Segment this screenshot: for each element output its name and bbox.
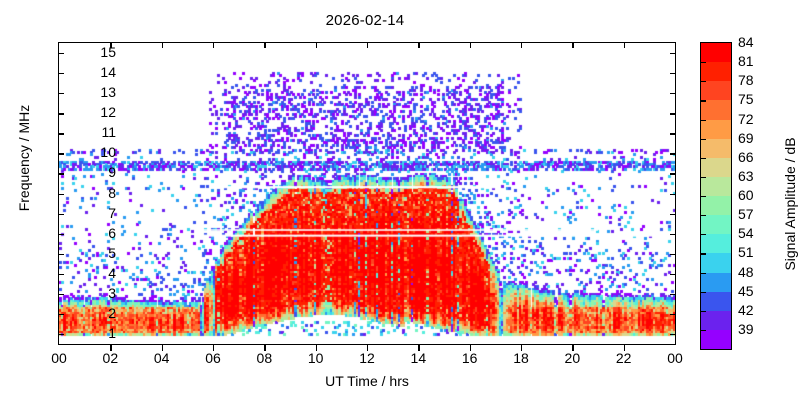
colorbar-segment bbox=[701, 120, 731, 140]
colorbar-tick-label: 60 bbox=[738, 188, 754, 202]
x-tick-label: 02 bbox=[90, 351, 130, 365]
y-tick-mark bbox=[58, 274, 64, 275]
y-tick-mark-right bbox=[670, 194, 676, 195]
y-tick-label: 12 bbox=[72, 105, 116, 119]
colorbar-tick-mark bbox=[700, 196, 706, 197]
y-tick-mark bbox=[58, 173, 64, 174]
colorbar-tick-mark bbox=[700, 330, 706, 331]
y-tick-mark-right bbox=[670, 113, 676, 114]
colorbar-tick-label: 78 bbox=[738, 73, 754, 87]
colorbar-tick-label: 57 bbox=[738, 207, 754, 221]
y-tick-label: 3 bbox=[72, 286, 116, 300]
y-tick-mark bbox=[58, 314, 64, 315]
colorbar-tick-mark bbox=[700, 158, 706, 159]
y-tick-label: 9 bbox=[72, 165, 116, 179]
plot-area bbox=[58, 42, 676, 345]
x-tick-label: 14 bbox=[398, 351, 438, 365]
colorbar-tick-mark bbox=[700, 139, 706, 140]
y-tick-mark bbox=[58, 294, 64, 295]
y-tick-mark bbox=[58, 194, 64, 195]
y-tick-mark-right bbox=[670, 133, 676, 134]
colorbar-segment bbox=[701, 196, 731, 216]
x-tick-mark bbox=[470, 345, 471, 351]
colorbar-tick-mark bbox=[700, 273, 706, 274]
y-tick-mark bbox=[58, 73, 64, 74]
colorbar-tick-mark bbox=[700, 311, 706, 312]
colorbar-tick-label: 81 bbox=[738, 54, 754, 68]
colorbar-segment bbox=[701, 158, 731, 178]
colorbar-tick-mark bbox=[700, 215, 706, 216]
x-tick-label: 08 bbox=[244, 351, 284, 365]
y-tick-label: 13 bbox=[72, 85, 116, 99]
x-tick-label: 00 bbox=[655, 351, 695, 365]
x-tick-mark bbox=[572, 345, 573, 351]
colorbar-segment bbox=[701, 292, 731, 312]
x-tick-label: 18 bbox=[501, 351, 541, 365]
y-tick-mark bbox=[58, 53, 64, 54]
x-tick-mark-top bbox=[162, 42, 163, 48]
y-tick-label: 7 bbox=[72, 206, 116, 220]
colorbar-segment bbox=[701, 311, 731, 331]
y-tick-label: 14 bbox=[72, 65, 116, 79]
x-axis-label: UT Time / hrs bbox=[58, 373, 676, 389]
colorbar-tick-label: 75 bbox=[738, 92, 754, 106]
x-tick-label: 10 bbox=[296, 351, 336, 365]
y-tick-label: 6 bbox=[72, 226, 116, 240]
y-tick-label: 4 bbox=[72, 266, 116, 280]
y-tick-mark bbox=[58, 254, 64, 255]
x-tick-label: 04 bbox=[142, 351, 182, 365]
colorbar-tick-label: 54 bbox=[738, 226, 754, 240]
y-tick-label: 2 bbox=[72, 306, 116, 320]
y-tick-mark bbox=[58, 133, 64, 134]
colorbar-tick-label: 84 bbox=[738, 35, 754, 49]
y-tick-mark-right bbox=[670, 334, 676, 335]
colorbar-segment bbox=[701, 273, 731, 293]
y-tick-mark bbox=[58, 113, 64, 114]
colorbar-tick-label: 48 bbox=[738, 265, 754, 279]
colorbar-tick-mark bbox=[700, 292, 706, 293]
y-tick-label: 1 bbox=[72, 326, 116, 340]
colorbar-segment bbox=[701, 330, 731, 350]
x-tick-mark bbox=[264, 345, 265, 351]
x-tick-mark-top bbox=[264, 42, 265, 48]
x-tick-mark bbox=[521, 345, 522, 351]
x-tick-mark-top bbox=[624, 42, 625, 48]
colorbar-tick-mark bbox=[700, 234, 706, 235]
colorbar-segment bbox=[701, 100, 731, 120]
x-tick-mark-top bbox=[110, 42, 111, 48]
y-tick-mark-right bbox=[670, 173, 676, 174]
colorbar-segment bbox=[701, 253, 731, 273]
ionogram-screenshot: 2026-02-14 Frequency / MHz UT Time / hrs… bbox=[0, 0, 800, 400]
x-tick-mark-top bbox=[367, 42, 368, 48]
colorbar-tick-label: 51 bbox=[738, 245, 754, 259]
x-tick-mark bbox=[418, 345, 419, 351]
y-tick-mark-right bbox=[670, 73, 676, 74]
x-tick-mark-top bbox=[316, 42, 317, 48]
colorbar-segment bbox=[701, 43, 731, 63]
colorbar-segment bbox=[701, 234, 731, 254]
x-tick-mark bbox=[316, 345, 317, 351]
x-tick-mark-top bbox=[418, 42, 419, 48]
x-tick-label: 00 bbox=[39, 351, 79, 365]
colorbar-tick-mark bbox=[700, 253, 706, 254]
y-tick-mark-right bbox=[670, 234, 676, 235]
y-tick-mark-right bbox=[670, 53, 676, 54]
y-tick-mark-right bbox=[670, 274, 676, 275]
y-tick-mark bbox=[58, 214, 64, 215]
x-tick-mark-top bbox=[213, 42, 214, 48]
x-tick-mark bbox=[162, 345, 163, 351]
colorbar-title: Signal Amplitude / dB bbox=[782, 74, 798, 334]
colorbar-segment bbox=[701, 215, 731, 235]
x-tick-mark bbox=[110, 345, 111, 351]
x-tick-label: 20 bbox=[552, 351, 592, 365]
x-tick-label: 16 bbox=[450, 351, 490, 365]
colorbar-segment bbox=[701, 139, 731, 159]
y-tick-mark-right bbox=[670, 93, 676, 94]
colorbar-tick-label: 45 bbox=[738, 284, 754, 298]
colorbar-tick-label: 66 bbox=[738, 150, 754, 164]
colorbar-tick-mark bbox=[700, 62, 706, 63]
colorbar-tick-label: 69 bbox=[738, 131, 754, 145]
x-tick-label: 12 bbox=[347, 351, 387, 365]
colorbar-tick-label: 42 bbox=[738, 303, 754, 317]
y-axis-label: Frequency / MHz bbox=[16, 28, 32, 288]
x-tick-mark-top bbox=[470, 42, 471, 48]
y-tick-mark-right bbox=[670, 214, 676, 215]
x-tick-mark-top bbox=[521, 42, 522, 48]
colorbar-tick-label: 63 bbox=[738, 169, 754, 183]
colorbar-tick-label: 39 bbox=[738, 322, 754, 336]
colorbar-segment bbox=[701, 62, 731, 82]
colorbar-tick-label: 72 bbox=[738, 112, 754, 126]
x-tick-mark bbox=[624, 345, 625, 351]
y-tick-label: 10 bbox=[72, 145, 116, 159]
y-tick-label: 5 bbox=[72, 246, 116, 260]
colorbar-tick-mark bbox=[700, 177, 706, 178]
y-tick-mark bbox=[58, 234, 64, 235]
y-tick-mark bbox=[58, 93, 64, 94]
y-tick-mark-right bbox=[670, 254, 676, 255]
x-tick-label: 22 bbox=[604, 351, 644, 365]
colorbar-tick-mark bbox=[700, 120, 706, 121]
y-tick-mark-right bbox=[670, 153, 676, 154]
y-tick-mark bbox=[58, 334, 64, 335]
y-tick-mark-right bbox=[670, 294, 676, 295]
x-tick-label: 06 bbox=[193, 351, 233, 365]
colorbar-segment bbox=[701, 81, 731, 101]
y-tick-mark bbox=[58, 153, 64, 154]
colorbar-segment bbox=[701, 177, 731, 197]
x-tick-mark bbox=[367, 345, 368, 351]
x-tick-mark-top bbox=[572, 42, 573, 48]
y-tick-label: 11 bbox=[72, 125, 116, 139]
colorbar-tick-mark bbox=[700, 81, 706, 82]
x-tick-mark bbox=[213, 345, 214, 351]
colorbar-tick-mark bbox=[700, 100, 706, 101]
y-tick-mark-right bbox=[670, 314, 676, 315]
y-tick-label: 8 bbox=[72, 186, 116, 200]
spectrogram-canvas bbox=[59, 43, 675, 344]
page-title: 2026-02-14 bbox=[0, 12, 730, 29]
